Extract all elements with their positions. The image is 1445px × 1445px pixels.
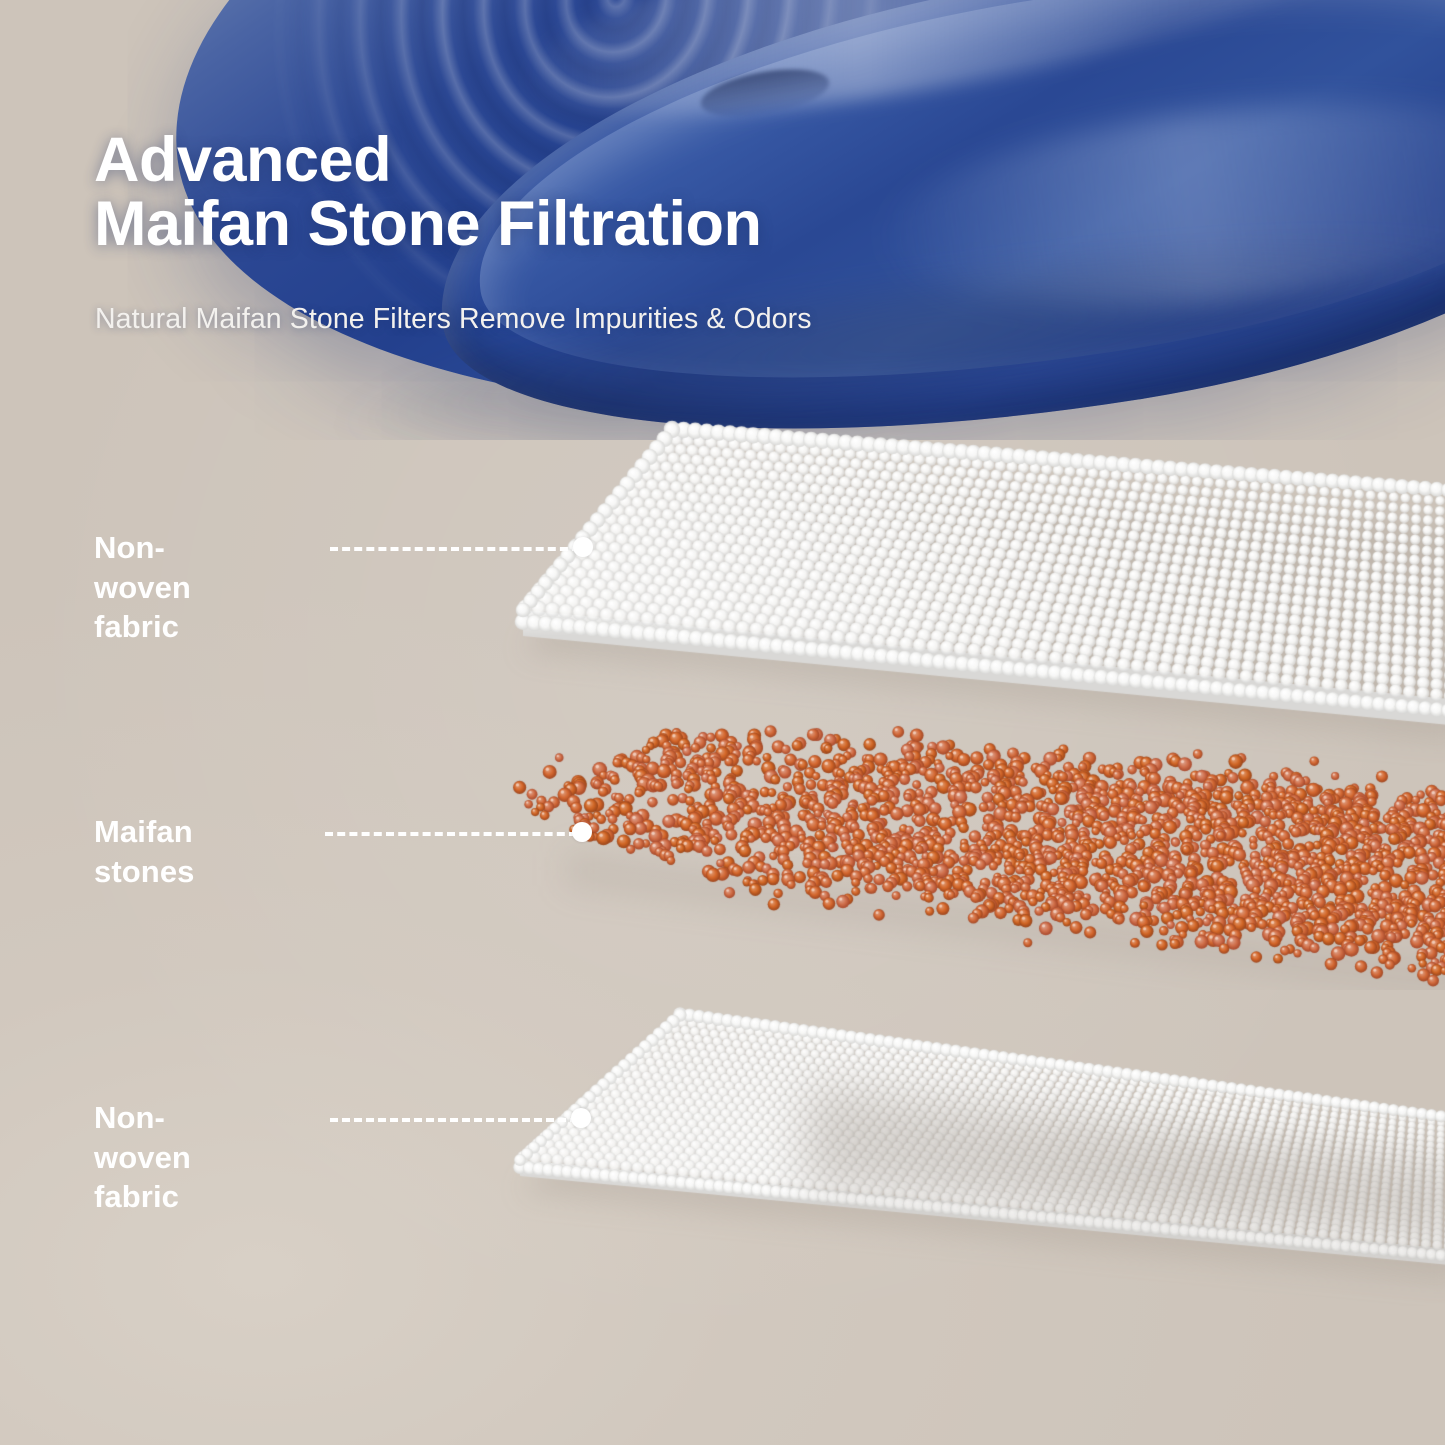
callout-label-maifan-stones: Maifan stones xyxy=(94,812,195,891)
callout-leader-line-maifan-stones xyxy=(325,832,577,836)
callout-marker-dot-maifan-stones xyxy=(572,822,592,842)
layer-bottom-nonwoven xyxy=(490,985,1445,1306)
page-title: Advanced Maifan Stone Filtration xyxy=(94,128,762,257)
callout-leader-line-top-fabric xyxy=(330,547,580,551)
maifan-stone-granules xyxy=(505,700,1445,990)
callout-marker-dot-bottom-fabric xyxy=(571,1108,591,1128)
maifan-stone-layer xyxy=(505,700,1445,990)
callout-label-top-fabric: Non-woven fabric xyxy=(94,528,191,647)
callout-marker-dot-top-fabric xyxy=(573,537,593,557)
page-subtitle: Natural Maifan Stone Filters Remove Impu… xyxy=(95,303,812,336)
callout-leader-line-bottom-fabric xyxy=(330,1118,578,1122)
infographic-canvas: Advanced Maifan Stone Filtration Natural… xyxy=(0,0,1445,1445)
callout-label-bottom-fabric: Non-woven fabric xyxy=(94,1098,191,1217)
